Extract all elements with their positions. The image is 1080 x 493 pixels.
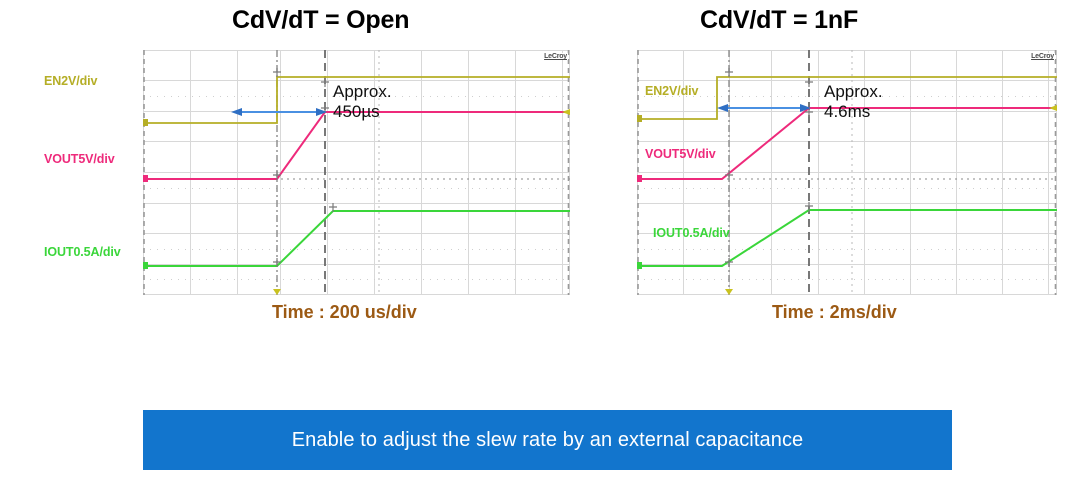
cursor-glyphs-right	[725, 68, 813, 267]
slide-root: CdV/dT = Open CdV/dT = 1nF	[0, 0, 1080, 493]
graticule-subticks-right	[637, 97, 1057, 280]
trigger-level-marker-right[interactable]	[1049, 105, 1057, 111]
measurement-span-arrow-right	[717, 104, 811, 112]
annotation-right-line1: Approx.	[824, 82, 883, 102]
channel-label-en-left: EN2V/div	[44, 74, 97, 88]
lecroy-logo-left: LeCroy	[543, 53, 568, 60]
channel-label-vout-left: VOUT5V/div	[44, 152, 115, 166]
annotation-left-line2: 450µs	[333, 102, 392, 122]
timebase-label-right: Time : 2ms/div	[772, 302, 897, 323]
annotation-left-line1: Approx.	[333, 82, 392, 102]
channel-label-iout-right: IOUT0.5A/div	[653, 226, 730, 240]
panel-title-left: CdV/dT = Open	[232, 6, 409, 35]
annotation-right-line2: 4.6ms	[824, 102, 883, 122]
measurement-span-arrow-left	[231, 108, 327, 116]
channel-label-iout-left: IOUT0.5A/div	[44, 245, 121, 259]
lecroy-logo-right: LeCroy	[1030, 53, 1055, 60]
panel-title-right: CdV/dT = 1nF	[700, 6, 858, 35]
summary-banner-text: Enable to adjust the slew rate by an ext…	[292, 429, 804, 452]
annotation-right: Approx. 4.6ms	[824, 82, 883, 122]
timebase-label-left: Time : 200 us/div	[272, 302, 417, 323]
channel-label-vout-right: VOUT5V/div	[645, 147, 716, 161]
trigger-level-marker-left[interactable]	[562, 109, 570, 115]
graticule-subticks-left	[143, 97, 570, 280]
channel-label-en-right: EN2V/div	[645, 84, 698, 98]
annotation-left: Approx. 450µs	[333, 82, 392, 122]
summary-banner: Enable to adjust the slew rate by an ext…	[143, 410, 952, 470]
trace-iout-left	[143, 211, 570, 266]
